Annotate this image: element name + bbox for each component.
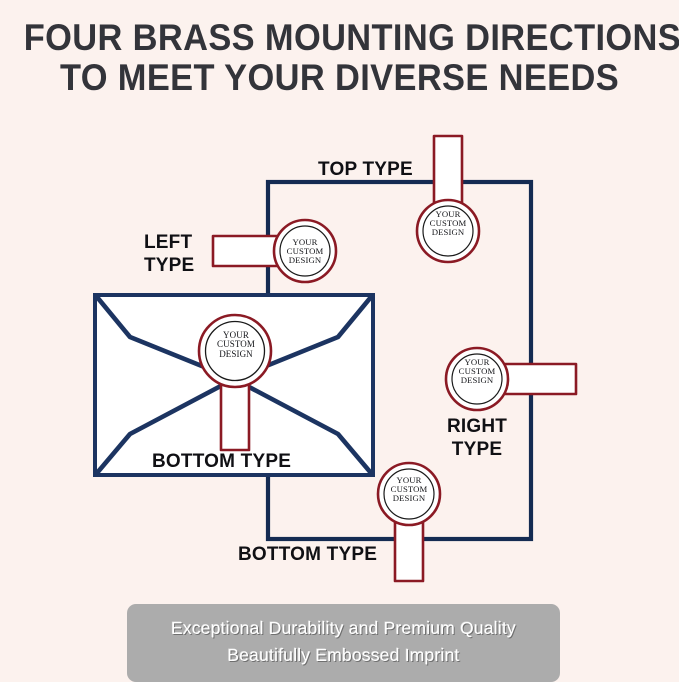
banner-line-1: Exceptional Durability and Premium Quali… [127, 615, 560, 642]
stamp-bottom[interactable] [378, 463, 440, 581]
label-bottom-type-envelope: BOTTOM TYPE [152, 450, 291, 473]
stamp-right[interactable] [446, 348, 576, 410]
label-right-type-line2: TYPE [438, 438, 516, 461]
banner-line-2: Beautifully Embossed Imprint [127, 642, 560, 669]
infographic-page: FOUR BRASS MOUNTING DIRECTIONS TO MEET Y… [0, 0, 679, 679]
label-top-type: TOP TYPE [318, 158, 413, 181]
label-left-type: LEFT TYPE [144, 231, 194, 277]
stamp-envelope-seal-inner [206, 322, 265, 381]
label-right-type-line1: RIGHT [438, 415, 516, 438]
stamp-top[interactable] [417, 136, 479, 262]
label-right-type: RIGHT TYPE [438, 415, 516, 461]
label-left-type-line1: LEFT [144, 231, 194, 254]
label-bottom-type-frame: BOTTOM TYPE [238, 543, 377, 566]
stamp-top-seal-inner [423, 206, 473, 256]
stamp-left-seal-inner [280, 226, 330, 276]
label-left-type-line2: TYPE [144, 254, 194, 277]
stamp-right-seal-inner [452, 354, 502, 404]
diagram-svg [0, 0, 679, 679]
stamp-bottom-seal-inner [384, 469, 434, 519]
stamp-left[interactable] [213, 220, 336, 282]
feature-banner: Exceptional Durability and Premium Quali… [127, 604, 560, 682]
diagram-stage [0, 0, 679, 679]
